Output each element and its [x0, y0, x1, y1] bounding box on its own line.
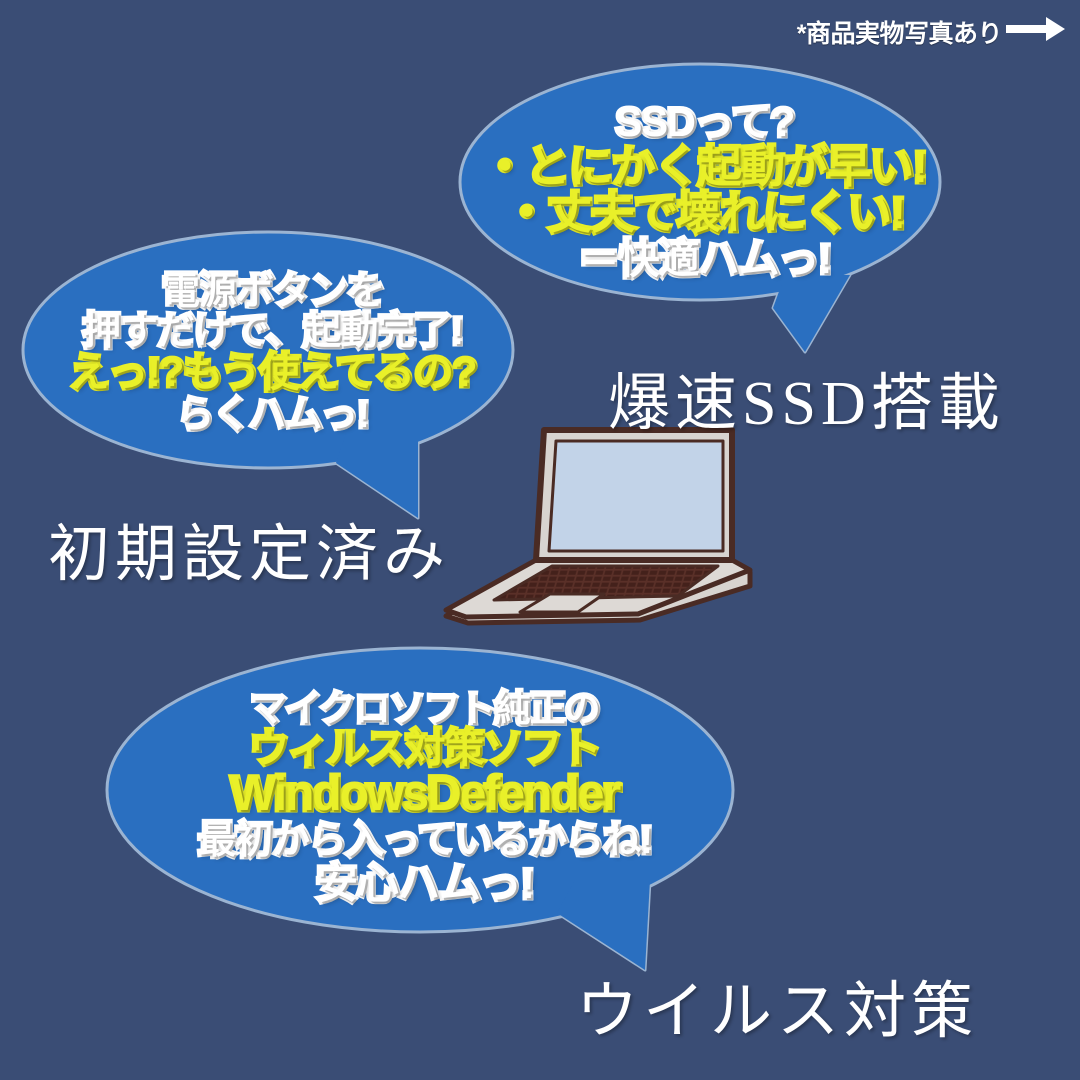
poster-canvas: *商品実物写真あり SSDって? ・とにかく起動が早い! ・丈夫で壊れにくい! … — [0, 0, 1080, 1080]
bubble-line: 電源ボタンを — [162, 272, 384, 312]
caption-ssd: 爆速SSD搭載 — [608, 352, 1005, 442]
bubble-line: WindowsDefender — [231, 770, 619, 821]
bubble-line: ・とにかく起動が早い! — [483, 145, 927, 192]
bubble-line: SSDって? — [616, 102, 795, 144]
caption-setup: 初期設定済み — [48, 503, 450, 593]
bubble-line: ウィルス対策ソフト — [250, 728, 601, 770]
speech-bubble-defender: マイクロソフト純正の ウィルス対策ソフト WindowsDefender 最初か… — [105, 645, 745, 975]
bubble-line: らくハムっ! — [177, 395, 368, 434]
bubble-line: マイクロソフト純正の — [250, 690, 599, 728]
bubble-line: ＝快適ハムっ! — [579, 238, 832, 281]
product-photo-note-label: *商品実物写真あり — [797, 14, 1002, 50]
laptop-illustration — [432, 420, 772, 640]
bubble-line: 最初から入っているからね! — [198, 821, 652, 861]
bubble-line: えっ!?もう使えてるの? — [70, 352, 477, 394]
speech-bubble-ssd-text: SSDって? ・とにかく起動が早い! ・丈夫で壊れにくい! ＝快適ハムっ! — [455, 78, 955, 306]
speech-bubble-defender-text: マイクロソフト純正の ウィルス対策ソフト WindowsDefender 最初か… — [105, 667, 745, 929]
speech-bubble-ssd: SSDって? ・とにかく起動が早い! ・丈夫で壊れにくい! ＝快適ハムっ! — [455, 60, 955, 350]
product-photo-note: *商品実物写真あり — [797, 14, 1066, 50]
bubble-line: ・丈夫で壊れにくい! — [505, 191, 905, 238]
caption-virus: ウイルス対策 — [576, 960, 978, 1050]
bubble-line: 押すだけで、起動完了! — [83, 312, 463, 352]
bubble-line: 安心ハムっ! — [316, 862, 534, 907]
right-arrow-icon — [1006, 16, 1066, 49]
